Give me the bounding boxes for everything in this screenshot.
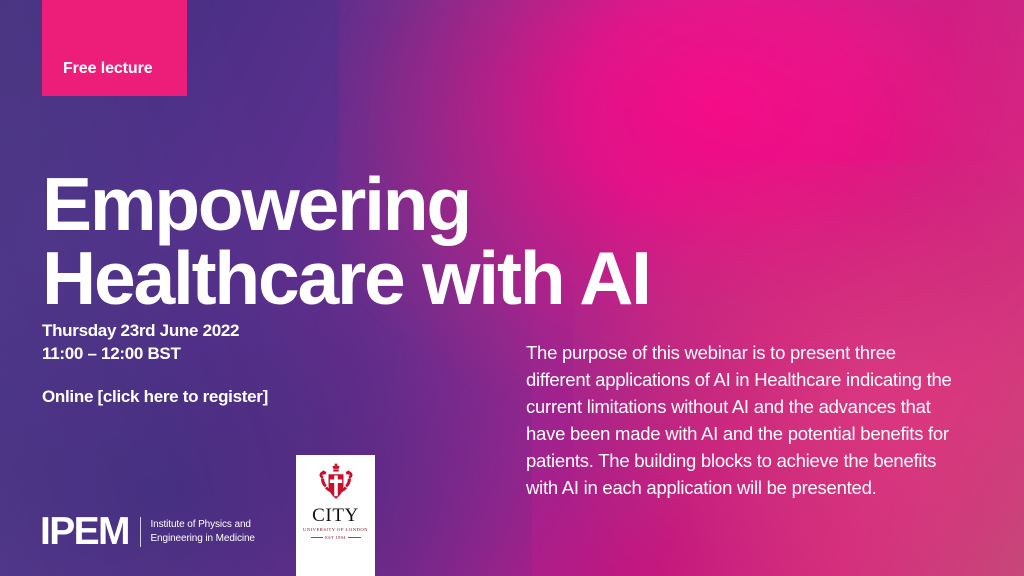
register-link[interactable]: Online [click here to register]	[42, 387, 268, 407]
city-wordmark: CITY	[312, 506, 359, 525]
free-lecture-badge-label: Free lecture	[63, 60, 153, 78]
webinar-promo-poster: Free lecture Empowering Healthcare with …	[0, 0, 1024, 576]
ipem-logo: IPEM Institute of Physics and Engineerin…	[40, 512, 255, 551]
city-established: EST 1894	[323, 535, 349, 540]
city-rule-right	[348, 537, 360, 538]
city-subtitle: UNIVERSITY OF LONDON	[303, 527, 368, 532]
event-datetime: Thursday 23rd June 2022 11:00 – 12:00 BS…	[42, 320, 268, 365]
event-details: Thursday 23rd June 2022 11:00 – 12:00 BS…	[42, 320, 268, 407]
ipem-wordmark: IPEM	[40, 512, 129, 551]
city-established-row: EST 1894	[311, 535, 361, 540]
event-description: The purpose of this webinar is to presen…	[526, 339, 954, 501]
ipem-divider	[140, 517, 142, 547]
ipem-subtitle: Institute of Physics and Engineering in …	[150, 518, 254, 544]
city-coat-of-arms-icon	[314, 461, 358, 505]
page-title: Empowering Healthcare with AI	[42, 168, 650, 315]
city-rule-left	[311, 537, 323, 538]
free-lecture-badge: Free lecture	[42, 0, 187, 96]
city-university-logo: CITY UNIVERSITY OF LONDON EST 1894	[296, 455, 375, 576]
